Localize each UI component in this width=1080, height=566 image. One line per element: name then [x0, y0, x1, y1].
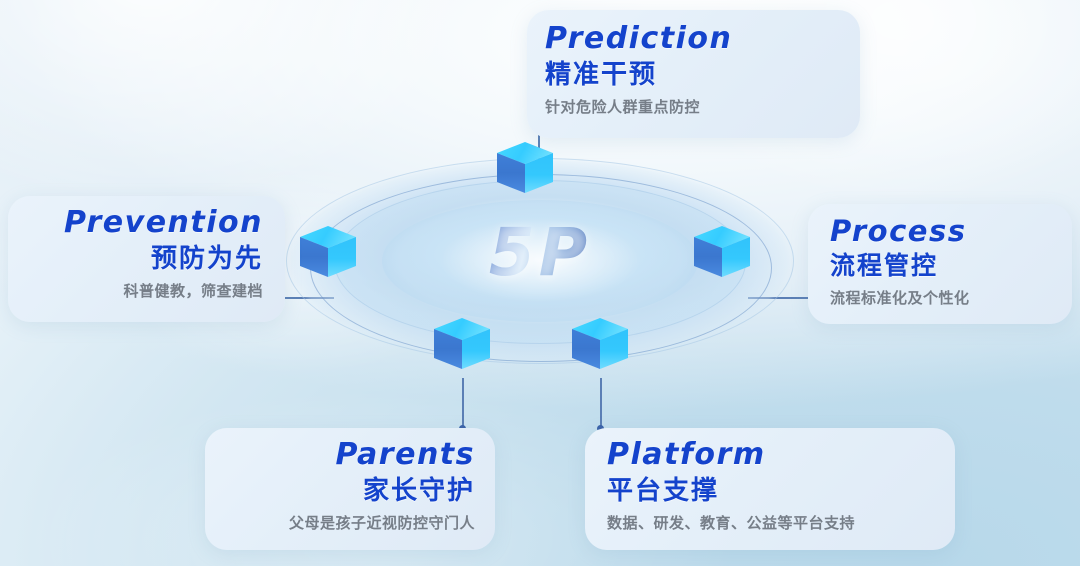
card-title-en: Prevention: [8, 207, 263, 239]
card-title-en: Prediction: [545, 23, 860, 55]
card-subtitle: 流程标准化及个性化: [830, 289, 1072, 309]
central-hub-graphic: 5P: [286, 158, 794, 390]
card-prediction[interactable]: Prediction 精准干预 针对危险人群重点防控: [527, 10, 860, 138]
card-title-cn: 流程管控: [830, 250, 1072, 281]
card-subtitle: 针对危险人群重点防控: [545, 98, 860, 118]
card-title-en: Process: [830, 216, 1072, 246]
infographic-canvas: 5P Prediction 精准干: [0, 0, 1080, 566]
card-title-en: Platform: [607, 439, 955, 471]
card-title-en: Parents: [205, 439, 475, 471]
card-title-cn: 平台支撑: [607, 475, 955, 508]
card-process[interactable]: Process 流程管控 流程标准化及个性化: [808, 204, 1072, 324]
node-cube-process: [694, 226, 750, 288]
node-cube-platform: [572, 318, 628, 380]
node-cube-parents: [434, 318, 490, 380]
card-subtitle: 父母是孩子近视防控守门人: [205, 514, 475, 534]
card-parents[interactable]: Parents 家长守护 父母是孩子近视防控守门人: [205, 428, 495, 550]
card-title-cn: 精准干预: [545, 59, 860, 92]
card-prevention[interactable]: Prevention 预防为先 科普健教，筛查建档: [8, 196, 285, 322]
card-platform[interactable]: Platform 平台支撑 数据、研发、教育、公益等平台支持: [585, 428, 955, 550]
node-cube-prevention: [300, 226, 356, 288]
card-title-cn: 预防为先: [8, 243, 263, 276]
card-title-cn: 家长守护: [205, 475, 475, 508]
card-subtitle: 数据、研发、教育、公益等平台支持: [607, 514, 955, 534]
node-cube-prediction: [497, 142, 553, 204]
card-subtitle: 科普健教，筛查建档: [8, 282, 263, 302]
